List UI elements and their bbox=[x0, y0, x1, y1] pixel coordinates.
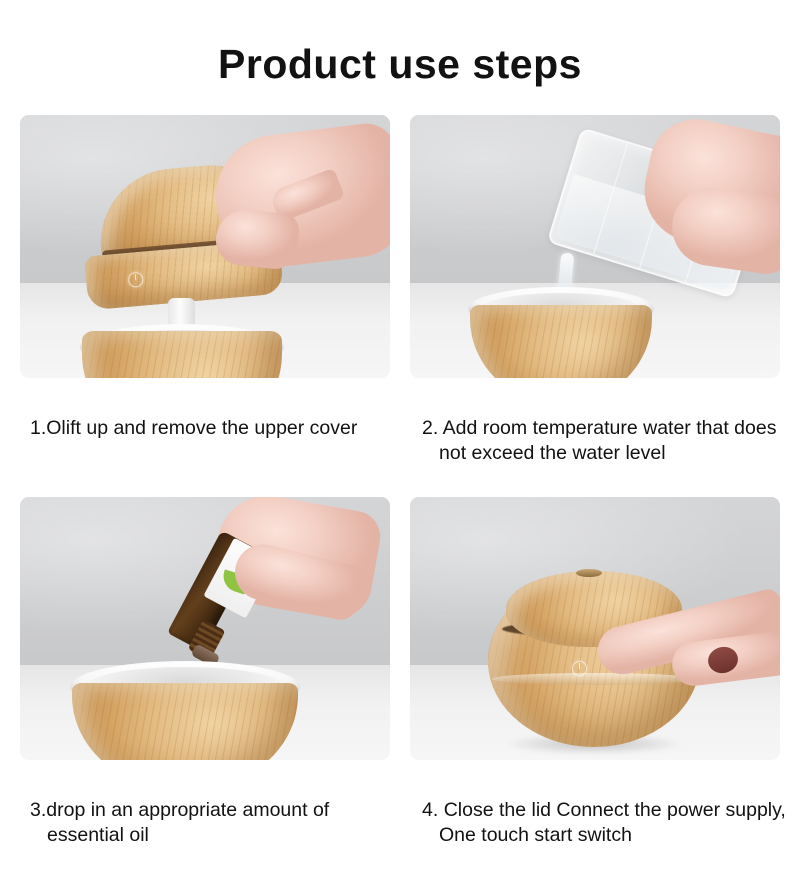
diffuser-base-bowl bbox=[470, 305, 652, 378]
step-4-text-line2: One touch start switch bbox=[422, 823, 792, 848]
step-4-text: Close the lid Connect the power supply, bbox=[444, 799, 786, 821]
step-card-2: 2. Add room temperature water that does … bbox=[410, 115, 780, 491]
step-1-text: Olift up and remove the upper cover bbox=[46, 417, 357, 439]
steps-grid: 1.Olift up and remove the upper cover bbox=[20, 115, 780, 873]
step-1-caption: 1.Olift up and remove the upper cover bbox=[20, 378, 400, 441]
infographic-page: Product use steps bbox=[0, 0, 800, 800]
step-2-text: Add room temperature water that does bbox=[443, 417, 777, 439]
step-3-photo bbox=[20, 497, 390, 760]
step-2-text-line2: not exceed the water level bbox=[422, 441, 792, 466]
step-1-number: 1. bbox=[30, 417, 46, 439]
step-3-caption: 3.drop in an appropriate amount of essen… bbox=[20, 760, 400, 873]
step-2-number: 2. bbox=[422, 417, 438, 439]
mist-nozzle bbox=[576, 569, 602, 577]
step-2-photo bbox=[410, 115, 780, 378]
step-4-number: 4. bbox=[422, 799, 438, 821]
body-seam bbox=[492, 673, 696, 685]
page-title: Product use steps bbox=[0, 44, 800, 85]
step-2-caption: 2. Add room temperature water that does … bbox=[410, 378, 792, 491]
step-3-number: 3. bbox=[30, 799, 46, 821]
step-4-caption: 4. Close the lid Connect the power suppl… bbox=[410, 760, 792, 873]
step-4-photo bbox=[410, 497, 780, 760]
step-card-3: 3.drop in an appropriate amount of essen… bbox=[20, 497, 390, 873]
diffuser-base-bowl bbox=[72, 683, 298, 760]
diffuser-base-bowl bbox=[82, 331, 282, 378]
step-card-1: 1.Olift up and remove the upper cover bbox=[20, 115, 390, 491]
power-button-icon bbox=[128, 272, 144, 288]
step-1-photo bbox=[20, 115, 390, 378]
step-3-text: drop in an appropriate amount of bbox=[46, 799, 329, 821]
step-card-4: 4. Close the lid Connect the power suppl… bbox=[410, 497, 780, 873]
step-3-text-line2: essential oil bbox=[30, 823, 400, 848]
